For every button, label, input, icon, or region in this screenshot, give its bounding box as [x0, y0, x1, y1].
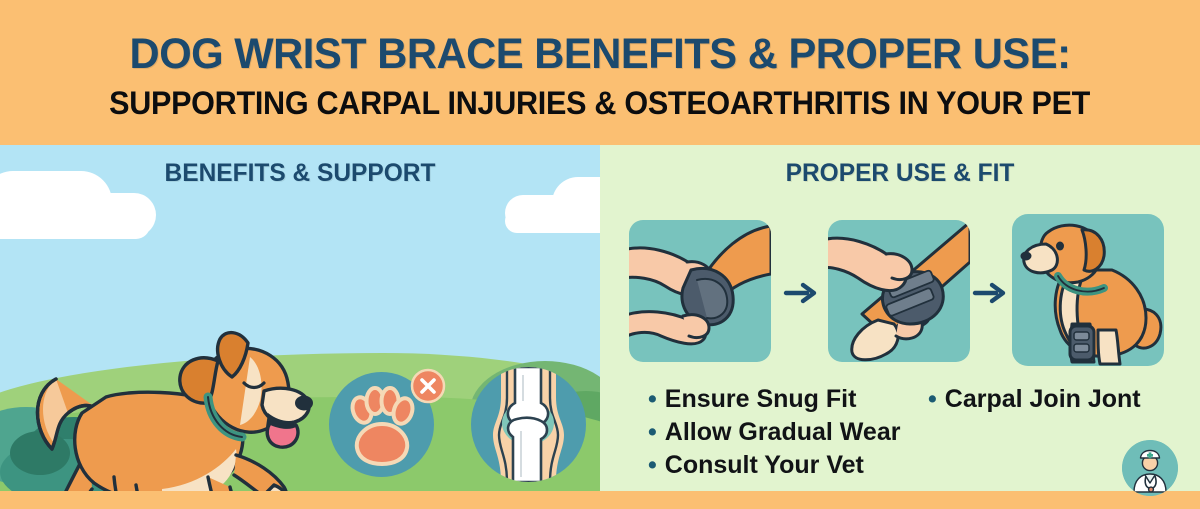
page-title: DOG WRIST BRACE BENEFITS & PROPER USE:	[130, 33, 1071, 76]
bullet-item: • Allow Gradual Wear	[648, 416, 900, 449]
pain-cross-badge	[410, 368, 446, 404]
arrow-right-icon	[972, 278, 1008, 308]
bullet-marker: •	[648, 387, 657, 412]
header-banner: DOG WRIST BRACE BENEFITS & PROPER USE: S…	[0, 0, 1200, 145]
infographic-root: DOG WRIST BRACE BENEFITS & PROPER USE: S…	[0, 0, 1200, 509]
bullet-label: Ensure Snug Fit	[665, 383, 857, 416]
running-dog-illustration	[12, 327, 332, 491]
panel-benefits-support: BENEFITS & SUPPORT	[0, 145, 600, 491]
knee-joint-anatomy-icon	[471, 367, 586, 482]
bullet-item: • Consult Your Vet	[648, 449, 900, 482]
bullet-marker: •	[928, 387, 937, 412]
veterinarian-avatar-badge	[1122, 440, 1178, 496]
step-card-secure-straps	[828, 220, 970, 362]
bullet-marker: •	[648, 453, 657, 478]
cloud-icon	[0, 211, 150, 239]
bullet-label: Consult Your Vet	[665, 449, 864, 482]
step-card-apply-brace	[629, 220, 771, 362]
footer-strip	[0, 491, 1200, 509]
bullet-item: • Ensure Snug Fit	[648, 383, 900, 416]
bullet-label: Carpal Join Jont	[945, 383, 1141, 416]
bullet-marker: •	[648, 420, 657, 445]
bullet-item: • Carpal Join Jont	[928, 383, 1141, 416]
left-panel-heading: BENEFITS & SUPPORT	[6, 159, 594, 188]
step-card-dog-wearing-brace	[1012, 214, 1164, 366]
cloud-icon	[505, 209, 600, 233]
arrow-right-icon	[783, 278, 819, 308]
bullet-label: Allow Gradual Wear	[665, 416, 901, 449]
page-subtitle: SUPPORTING CARPAL INJURIES & OSTEOARTHRI…	[110, 87, 1091, 119]
right-panel-bullet-list-primary: • Ensure Snug Fit • Allow Gradual Wear •…	[648, 383, 900, 482]
right-panel-bullet-list-secondary: • Carpal Join Jont	[928, 383, 1141, 416]
right-panel-heading: PROPER USE & FIT	[606, 159, 1194, 188]
